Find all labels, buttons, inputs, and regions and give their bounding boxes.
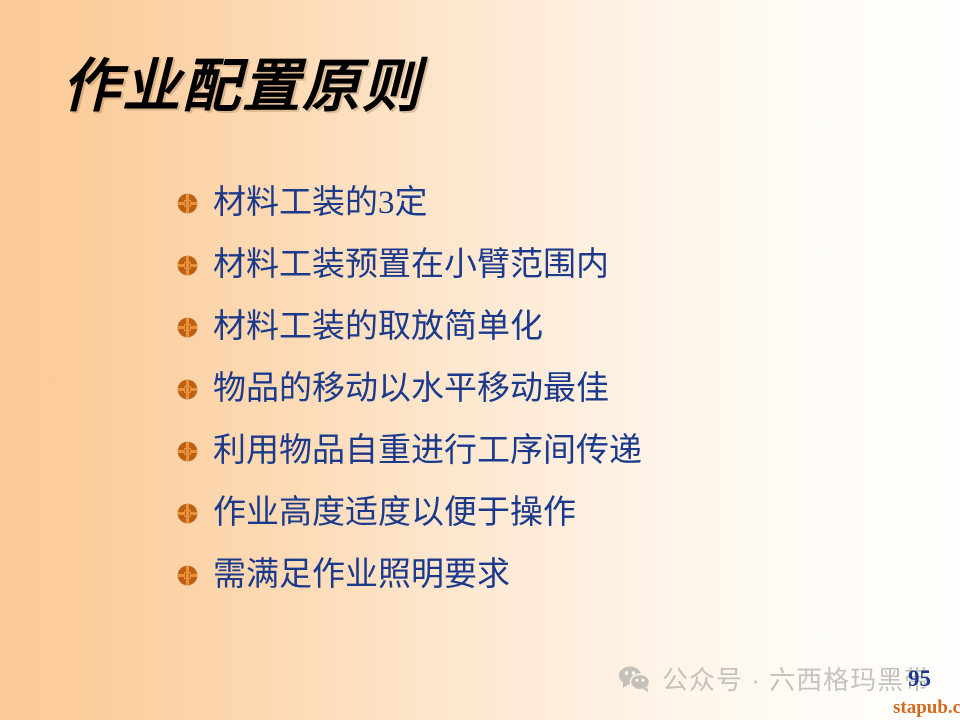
list-item: 物品的移动以水平移动最佳: [178, 358, 898, 420]
target-bullet-icon: [178, 504, 197, 523]
watermark: 公众号 · 六西格玛黑带: [618, 660, 931, 697]
list-item: 材料工装预置在小臂范围内: [178, 234, 898, 296]
target-bullet-icon: [178, 442, 197, 461]
list-item-label: 材料工装预置在小臂范围内: [213, 249, 609, 282]
target-bullet-icon: [178, 318, 197, 337]
list-item-label: 材料工装的3定: [213, 187, 428, 220]
wechat-icon: [618, 665, 652, 693]
bullet-list: 材料工装的3定 材料工装预置在小臂范围内 材料工装的取放简单化 物品的移动以水平…: [178, 172, 898, 606]
list-item-label: 物品的移动以水平移动最佳: [213, 373, 609, 406]
target-bullet-core-icon: [184, 262, 191, 269]
list-item: 材料工装的3定: [178, 172, 898, 234]
page-title: 作业配置原则: [62, 57, 422, 118]
target-bullet-icon: [178, 194, 197, 213]
target-bullet-icon: [178, 256, 197, 275]
list-item-label: 材料工装的取放简单化: [213, 311, 543, 344]
target-bullet-icon: [178, 380, 197, 399]
list-item: 作业高度适度以便于操作: [178, 482, 898, 544]
list-item-label: 需满足作业照明要求: [213, 559, 510, 592]
target-bullet-core-icon: [184, 386, 191, 393]
target-bullet-core-icon: [184, 324, 191, 331]
site-stamp: stapub.com: [893, 697, 960, 719]
list-item: 需满足作业照明要求: [178, 544, 898, 606]
target-bullet-icon: [178, 566, 197, 585]
slide-canvas: 作业配置原则 材料工装的3定 材料工装预置在小臂范围内 材料工装的取放简单化: [0, 0, 960, 720]
list-item: 利用物品自重进行工序间传递: [178, 420, 898, 482]
target-bullet-core-icon: [184, 510, 191, 517]
target-bullet-core-icon: [184, 200, 191, 207]
watermark-label: 公众号 · 六西格玛黑带: [662, 660, 931, 697]
list-item-label: 作业高度适度以便于操作: [213, 497, 576, 530]
page-number: 95: [908, 666, 931, 692]
target-bullet-core-icon: [184, 448, 191, 455]
list-item: 材料工装的取放简单化: [178, 296, 898, 358]
target-bullet-core-icon: [184, 572, 191, 579]
list-item-label: 利用物品自重进行工序间传递: [213, 435, 642, 468]
